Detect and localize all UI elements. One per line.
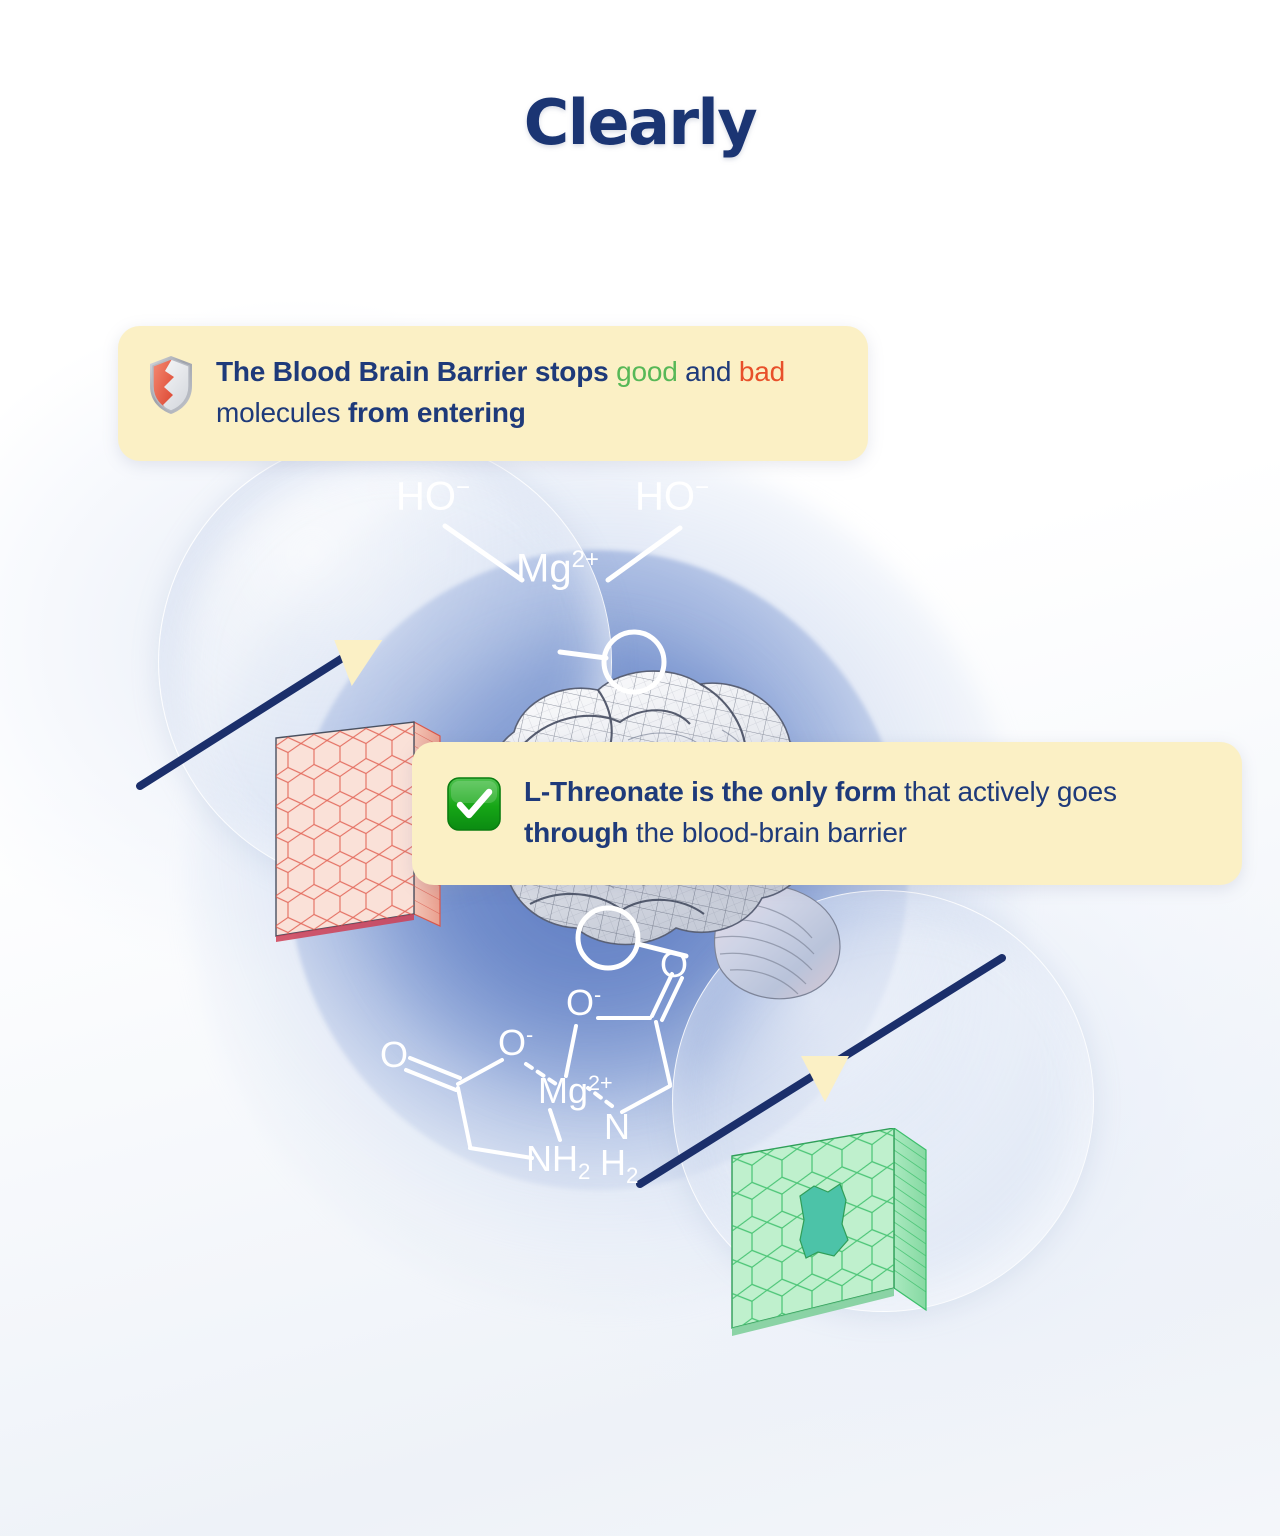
label-carbonyl-oxygen-left: O bbox=[380, 1034, 408, 1076]
magnesium-hydroxide-molecule: HO− HO− Mg2+ bbox=[390, 470, 790, 610]
bond-nh2-mg-left bbox=[550, 1110, 560, 1140]
label-amine-left: NH2 bbox=[526, 1138, 590, 1185]
callout-seg-good: good bbox=[616, 356, 678, 387]
label-hydroxide-left: HO− bbox=[396, 474, 470, 519]
label-hydroxide-right: HO− bbox=[635, 474, 709, 519]
label-oxygen-anion-top: O- bbox=[566, 982, 601, 1024]
label-magnesium-ion: Mg2+ bbox=[516, 546, 599, 591]
bond-ho-left bbox=[445, 526, 522, 580]
label-oxygen-anion-left: O- bbox=[498, 1022, 533, 1064]
callout-l-threonate[interactable]: L-Threonate is the only form that active… bbox=[412, 742, 1242, 885]
magnesium-glycinate-molecule: O O- O- O Mg2+ NH2 N H2 bbox=[360, 960, 780, 1190]
infographic-page: Clearly bbox=[0, 0, 1280, 1536]
callout2-seg-bold-2: through bbox=[524, 817, 628, 848]
callout-seg-bad: bad bbox=[739, 356, 785, 387]
shield-icon bbox=[148, 355, 194, 415]
membrane-pore bbox=[800, 1184, 848, 1258]
brand-logo-text: Clearly bbox=[524, 86, 756, 159]
callout-seg-molecules: molecules bbox=[216, 397, 348, 428]
callout-blocked-text: The Blood Brain Barrier stops good and b… bbox=[216, 352, 838, 433]
callout2-seg-normal-1: that actively goes bbox=[896, 776, 1116, 807]
label-carbonyl-oxygen-right: O bbox=[660, 944, 688, 986]
callout-blood-brain-barrier[interactable]: The Blood Brain Barrier stops good and b… bbox=[118, 326, 868, 461]
bond-c-ch2-right bbox=[656, 1022, 670, 1084]
callout2-seg-normal-2: the blood-brain barrier bbox=[628, 817, 906, 848]
label-amine-right-h2: H2 bbox=[600, 1142, 638, 1189]
callout-seg-bold-1: The Blood Brain Barrier stops bbox=[216, 356, 616, 387]
bond-ho-right bbox=[608, 528, 680, 580]
bond-ominus-mg-top bbox=[566, 1026, 576, 1076]
callout2-seg-bold-1: L-Threonate is the only form bbox=[524, 776, 896, 807]
callout-seg-bold-2: from entering bbox=[348, 397, 526, 428]
bond-ch2-nh2-left bbox=[470, 1148, 532, 1158]
brand-logo: Clearly bbox=[0, 86, 1280, 159]
check-icon bbox=[446, 776, 502, 832]
callout-tail-permeable bbox=[801, 1056, 849, 1102]
callout-tail-blocked bbox=[328, 640, 382, 686]
bond-c-ominus-left bbox=[458, 1060, 502, 1084]
callout-seg-and: and bbox=[678, 356, 739, 387]
bond-c-ch2-left bbox=[458, 1088, 470, 1146]
label-magnesium-ion-chelate: Mg2+ bbox=[538, 1070, 613, 1112]
callout-permeable-text: L-Threonate is the only form that active… bbox=[524, 772, 1212, 853]
